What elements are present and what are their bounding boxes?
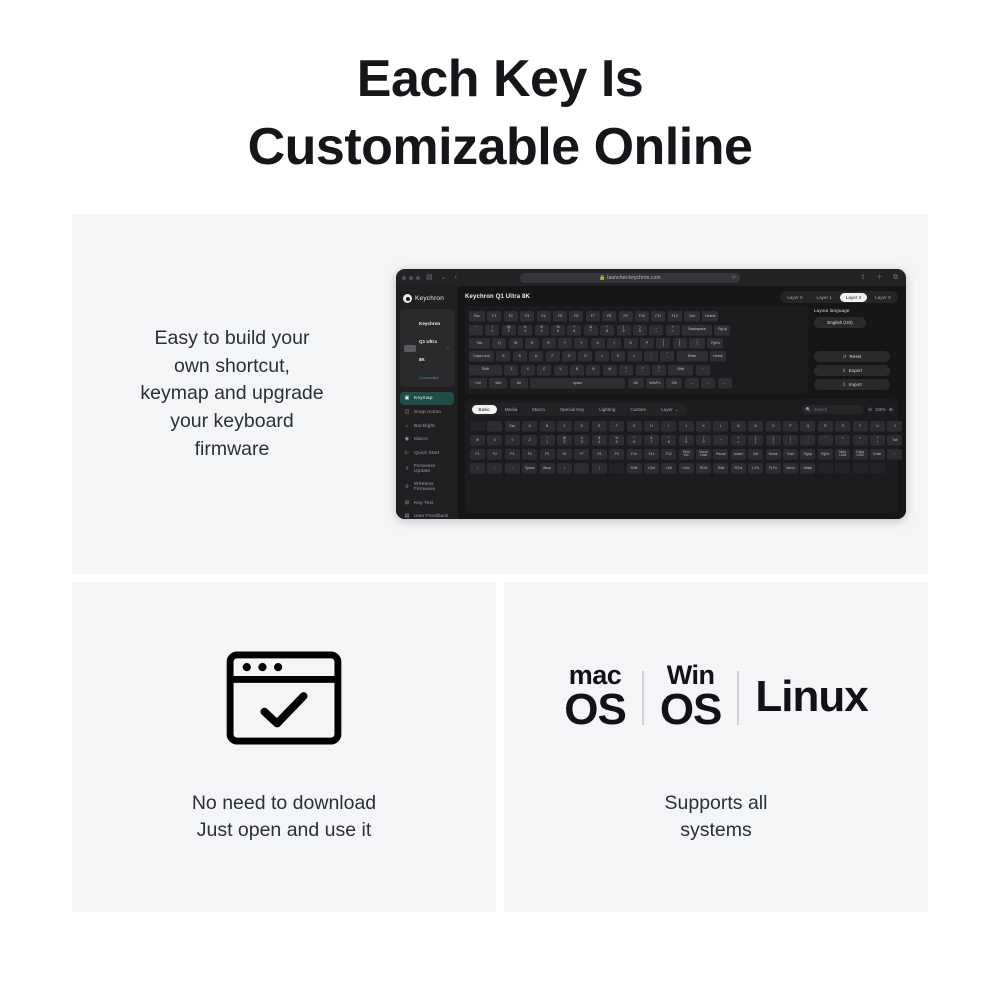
launcher-blurb: Easy to build your own shortcut, keymap … (82, 325, 382, 463)
key-picker-key[interactable]: " ' (818, 435, 833, 447)
keycap[interactable]: → (718, 378, 732, 389)
key-picker-key[interactable]: R-Fn (766, 463, 781, 475)
keycap[interactable]: * 8 (600, 325, 614, 336)
feature-cards: Easy to build your own shortcut, keymap … (72, 214, 928, 912)
sidebar-item-keymap[interactable]: ▣Keymap (400, 392, 454, 405)
keycap[interactable]: N (586, 365, 600, 376)
key-picker-key[interactable]: ^ 6 (627, 435, 642, 447)
no-download-caption: No need to download Just open and use it (192, 790, 376, 845)
blurb-line-2: own shortcut, (82, 353, 382, 381)
key-picker-key[interactable]: F7 (574, 449, 589, 461)
keycap[interactable]: $ 4 (535, 325, 549, 336)
keycap[interactable]: F1 (487, 311, 501, 322)
key-picker-key[interactable]: @ 2 (557, 435, 572, 447)
os-logo: Linux (755, 676, 867, 718)
keycap[interactable]: L (628, 351, 642, 362)
key-picker-key[interactable]: V (887, 421, 902, 433)
tab-label: Basic (479, 407, 490, 412)
search-placeholder: Search (814, 407, 827, 412)
layer-tab-0[interactable]: Layer 0 (781, 293, 808, 302)
share-icon[interactable]: ⇪ (858, 274, 868, 281)
keymap-content: EscF1F2F3F4F5F6F7F8F9F10F11F12DelDelete~… (458, 306, 906, 394)
key-picker-key[interactable]: ↓ (470, 463, 485, 475)
key-picker-key (870, 463, 885, 475)
key-picker-row: WXYZ! 1@ 2# 3$ 4% 5^ 6& 7* 8( 9) 0_ -+ =… (470, 435, 893, 447)
back-arrow-icon[interactable]: ‹ (453, 274, 459, 281)
key-picker-key[interactable]: M (731, 421, 746, 433)
sidebar-item-label: Snap Action (414, 410, 441, 415)
bottom-card-row: No need to download Just open and use it… (72, 582, 928, 912)
key-picker-key[interactable]: F11 (644, 449, 659, 461)
reset-icon: ↺ (843, 354, 847, 360)
key-picker-key[interactable]: Q (800, 421, 815, 433)
layout-panel: Layout language English (US) ↺Reset↥Expo… (814, 306, 898, 394)
keycap[interactable]: Shift (469, 365, 502, 376)
keycap[interactable]: J (595, 351, 609, 362)
keyboard-canvas[interactable]: EscF1F2F3F4F5F6F7F8F9F10F11F12DelDelete~… (465, 306, 808, 394)
key-picker-key[interactable]: RAlt (713, 463, 728, 475)
key-picker-key[interactable]: F8 (592, 449, 607, 461)
key-picker-key[interactable]: G (627, 421, 642, 433)
key-picker-key[interactable]: > . (853, 435, 868, 447)
keyboard-row: Caps LockASDFGHJKL: ;" 'EnterHome (469, 351, 804, 362)
keycap[interactable]: ( 9 (617, 325, 631, 336)
export-button[interactable]: ↥Export (814, 365, 890, 376)
key-picker-key[interactable]: RCtrl (696, 463, 711, 475)
keycap[interactable]: Enter (677, 351, 708, 362)
sidebar-item-firmware-update[interactable]: ⇧Firmware Update (400, 461, 454, 478)
keycap[interactable]: > . (636, 365, 650, 376)
zoom-level: 100% (875, 407, 886, 412)
keycap[interactable]: PgUp (714, 325, 730, 336)
keycap[interactable]: Y (574, 338, 588, 349)
keycap[interactable]: F (546, 351, 560, 362)
close-icon[interactable] (402, 276, 406, 280)
key-picker-key[interactable]: L (713, 421, 728, 433)
key-picker-key[interactable]: R (818, 421, 833, 433)
keycap[interactable]: & 7 (584, 325, 598, 336)
key-picker-key[interactable]: L-Fn (748, 463, 763, 475)
key-picker-key[interactable]: Esc (505, 421, 520, 433)
keycap[interactable]: Win/Fn (646, 378, 664, 389)
key-picker-key[interactable]: U (870, 421, 885, 433)
key-picker-key[interactable]: J (679, 421, 694, 433)
keycap[interactable]: | \ (689, 338, 705, 349)
device-name: Keychron Q1 Ultra 8K (419, 321, 440, 362)
key-picker-key[interactable]: Z (522, 435, 537, 447)
key-picker-key[interactable]: C (557, 421, 572, 433)
key-picker-key[interactable]: # 3 (574, 435, 589, 447)
key-picker-key[interactable]: LAlt (661, 463, 676, 475)
keycap[interactable]: F4 (537, 311, 551, 322)
key-picker-key[interactable]: Insert (731, 449, 746, 461)
key-picker-key[interactable]: F3 (505, 449, 520, 461)
keycap[interactable]: C (537, 365, 551, 376)
key-picker-key[interactable]: End (783, 449, 798, 461)
layer-tab-3[interactable]: Layer 3 (869, 293, 896, 302)
key-picker-key[interactable]: F12 (661, 449, 676, 461)
keycap[interactable]: _ - (649, 325, 663, 336)
key-picker-key[interactable]: + = (731, 435, 746, 447)
backlight-icon: ☼ (404, 423, 410, 429)
keycap[interactable]: Q (492, 338, 506, 349)
key-category-tab-lighting[interactable]: Lighting (592, 405, 622, 415)
keycap[interactable]: Win (489, 378, 507, 389)
key-picker-row: `EscABCDEFGHIJKLMNOPQRSTUV (470, 421, 893, 433)
key-picker-key[interactable]: I (661, 421, 676, 433)
chevron-down-icon[interactable]: ⌄ (446, 345, 450, 351)
key-picker-key[interactable]: PgDn (818, 449, 833, 461)
layer-tab-group: Layer 0Layer 1Layer 2Layer 3 (780, 291, 898, 303)
keycap[interactable]: ↑ (696, 365, 710, 376)
sidebar-item-backlight[interactable]: ☼Backlight (400, 420, 454, 433)
key-picker-key[interactable]: Pause (713, 449, 728, 461)
key-picker-key[interactable]: · (574, 463, 589, 475)
keycap[interactable]: U (591, 338, 605, 349)
blurb-line-4: your keyboard (82, 408, 382, 436)
zoom-out-icon[interactable]: ⊖ (868, 407, 872, 413)
key-picker-key (818, 463, 833, 475)
key-picker-key[interactable]: Del (748, 449, 763, 461)
key-picker-key[interactable]: W (470, 435, 485, 447)
keyboard-icon: ▣ (404, 396, 410, 402)
keycap[interactable]: A (496, 351, 510, 362)
launcher-app-window: ▤ ⌄ ‹ 🔒 launcher.keychron.com ⟳ ⇪ ＋ ⧉ (396, 269, 906, 519)
macro-icon: ◉ (404, 437, 410, 443)
keycap[interactable]: Esc (469, 311, 485, 322)
key-category-tab-layer[interactable]: Layer⌄ (654, 405, 685, 415)
keycap[interactable]: W (509, 338, 523, 349)
key-picker-key[interactable]: } ] (766, 435, 781, 447)
key-picker-key[interactable]: | (592, 463, 607, 475)
key-picker-key[interactable]: D (574, 421, 589, 433)
key-picker-key[interactable]: Y (505, 435, 520, 447)
key-picker-key[interactable]: E (592, 421, 607, 433)
key-picker-key[interactable]: ? / (870, 435, 885, 447)
page-title-line-2: Customizable Online (0, 114, 1000, 182)
sidebar-item-user-feedback[interactable]: ▤User Feedback (400, 510, 454, 519)
keycap[interactable]: V (554, 365, 568, 376)
key-picker-key (609, 463, 624, 475)
export-icon: ↥ (842, 368, 846, 374)
maximize-icon[interactable] (416, 276, 420, 280)
keycap[interactable]: Shift (668, 365, 693, 376)
keycap[interactable]: space (530, 378, 625, 389)
keyboard-row: EscF1F2F3F4F5F6F7F8F9F10F11F12DelDelete (469, 311, 804, 322)
keycap[interactable]: Del (684, 311, 700, 322)
key-picker-key[interactable]: X (487, 435, 502, 447)
key-picker-key[interactable]: T (853, 421, 868, 433)
key-picker-key[interactable]: F (609, 421, 624, 433)
key-picker-key[interactable]: ` (487, 421, 502, 433)
keycap[interactable]: O (624, 338, 638, 349)
keycap[interactable]: " ' (660, 351, 674, 362)
sidebar-item-quick-start[interactable]: ▷Quick Start (400, 447, 454, 460)
key-picker: BasicMediaMacroSpecial KeyLightingCustom… (465, 399, 898, 513)
key-picker-key[interactable]: _ - (713, 435, 728, 447)
keycap[interactable]: { [ (656, 338, 670, 349)
keycap[interactable]: F6 (569, 311, 583, 322)
key-category-tab-basic[interactable]: Basic (472, 405, 497, 415)
sidebar-item-label: User Feedback (414, 514, 448, 519)
keymap-header: Keychron Q1 Ultra 8K Layer 0Layer 1Layer… (458, 286, 906, 306)
keycap[interactable]: Delete (702, 311, 718, 322)
key-picker-key[interactable]: ! 1 (540, 435, 555, 447)
key-picker-key[interactable]: Shift (627, 463, 642, 475)
key-picker-toolbar: BasicMediaMacroSpecial KeyLightingCustom… (470, 403, 893, 416)
key-picker-key[interactable]: S (835, 421, 850, 433)
key-picker-key[interactable]: Space (522, 463, 537, 475)
tab-label: Macro (532, 407, 545, 412)
key-picker-key[interactable]: K (696, 421, 711, 433)
keycap[interactable]: F12 (668, 311, 682, 322)
keycap[interactable]: + = (666, 325, 680, 336)
keycap[interactable]: Caps Lock (469, 351, 494, 362)
key-picker-key[interactable]: Menu (783, 463, 798, 475)
keycap[interactable]: F5 (553, 311, 567, 322)
key-picker-key[interactable]: F4 (522, 449, 537, 461)
key-test-icon: ⊞ (404, 500, 410, 506)
keycap[interactable]: Backspace (682, 325, 712, 336)
keycap[interactable]: S (513, 351, 527, 362)
key-picker-key[interactable]: B (540, 421, 555, 433)
plus-icon[interactable]: ＋ (874, 274, 885, 281)
key-picker-key[interactable]: Enter (870, 449, 885, 461)
key-picker-key[interactable]: PgUp (800, 449, 815, 461)
key-picker-key[interactable]: & 7 (644, 435, 659, 447)
os-divider (642, 671, 644, 725)
keycap[interactable]: ← (685, 378, 699, 389)
keycap[interactable]: Ctrl (469, 378, 487, 389)
key-category-tabs: BasicMediaMacroSpecial KeyLightingCustom… (470, 403, 687, 416)
key-picker-key[interactable]: Scroll Lock (696, 449, 711, 461)
device-thumbnail-icon (404, 345, 416, 352)
device-info: Keychron Q1 Ultra 8K Connected (419, 312, 443, 384)
key-picker-key[interactable]: Tab (887, 435, 902, 447)
key-picker-key[interactable]: | \ (783, 435, 798, 447)
browser-window-check-icon (225, 650, 343, 746)
device-status: Connected (419, 375, 438, 380)
keycap[interactable]: ) 0 (633, 325, 647, 336)
page-title: Each Key Is Customizable Online (0, 0, 1000, 181)
window-traffic-lights[interactable] (402, 276, 420, 280)
key-picker-key[interactable]: Home (766, 449, 781, 461)
layer-tab-2[interactable]: Layer 2 (840, 293, 867, 302)
key-picker-key[interactable]: • (557, 463, 572, 475)
keycap[interactable]: : ; (644, 351, 658, 362)
keycap[interactable]: ↓ (701, 378, 715, 389)
keycap[interactable]: F11 (651, 311, 665, 322)
sidebar-item-key-test[interactable]: ⊞Key Test (400, 497, 454, 510)
key-picker-key[interactable]: O (766, 421, 781, 433)
key-picker-key[interactable]: Num Lock (835, 449, 850, 461)
keycap[interactable]: X (521, 365, 535, 376)
keycap[interactable]: < , (619, 365, 633, 376)
keycap[interactable]: Alt (510, 378, 528, 389)
keycap[interactable]: F2 (504, 311, 518, 322)
keycap[interactable]: F3 (520, 311, 534, 322)
keyboard-layout: EscF1F2F3F4F5F6F7F8F9F10F11F12DelDelete~… (469, 311, 804, 389)
key-picker-key[interactable]: ↑ (887, 449, 902, 461)
os-logo-suffix: OS (564, 689, 626, 731)
key-picker-key[interactable]: N (748, 421, 763, 433)
keycap[interactable]: F8 (602, 311, 616, 322)
layout-language-value: English (US) (827, 320, 852, 325)
key-picker-key[interactable]: RGui (731, 463, 746, 475)
key-picker-key[interactable]: ) 0 (696, 435, 711, 447)
keycap[interactable]: PgDn (707, 338, 723, 349)
key-picker-key[interactable]: F10 (627, 449, 642, 461)
launcher-body: Keychron Keychron Q1 Ultra 8K Connected … (396, 286, 906, 519)
reset-button[interactable]: ↺Reset (814, 351, 890, 362)
keycap[interactable]: E (525, 338, 539, 349)
keycap[interactable]: Alt (628, 378, 644, 389)
search-input[interactable]: 🔍 Search (802, 405, 864, 414)
key-picker-key[interactable]: { [ (748, 435, 763, 447)
key-picker-row: ↓←→SpaceBksp•·|ShiftLCtrlLAltLGuiRCtrlRA… (470, 463, 893, 475)
keycap[interactable]: G (562, 351, 576, 362)
zoom-controls: ⊖ 100% ⊕ (868, 407, 893, 413)
sidebar-nav: ▣Keymap◫Snap Action☼Backlight◉Macro▷Quic… (400, 392, 454, 519)
caption-line-2: Just open and use it (192, 817, 376, 845)
keycap[interactable]: T (558, 338, 572, 349)
keycap[interactable]: ~ ` (469, 325, 483, 336)
sidebar-item-label: Wireless Firmware (414, 482, 450, 492)
keycap[interactable]: ^ 6 (567, 325, 581, 336)
os-logo: WinOS (660, 663, 722, 731)
keycap[interactable]: F9 (619, 311, 633, 322)
brand-logo: Keychron (400, 292, 454, 309)
layout-language-select[interactable]: English (US) (814, 317, 866, 328)
card-no-download: No need to download Just open and use it (72, 582, 496, 912)
keycap[interactable]: R (542, 338, 556, 349)
keycap[interactable]: } ] (673, 338, 687, 349)
zoom-in-icon[interactable]: ⊕ (889, 407, 893, 413)
keycap[interactable]: I (607, 338, 621, 349)
keycap[interactable]: D (529, 351, 543, 362)
keycap[interactable]: M (603, 365, 617, 376)
keycap[interactable]: K (611, 351, 625, 362)
blurb-line-1: Easy to build your (82, 325, 382, 353)
key-picker-key[interactable]: ( 9 (679, 435, 694, 447)
keycap[interactable]: F7 (586, 311, 600, 322)
key-picker-key (835, 463, 850, 475)
key-picker-key[interactable]: Print Scr (679, 449, 694, 461)
tabs-overview-icon[interactable]: ⧉ (891, 274, 900, 281)
key-picker-key[interactable]: Caps Lock (853, 449, 868, 461)
picker-tools: 🔍 Search ⊖ 100% ⊕ (802, 405, 893, 414)
key-picker-key[interactable]: ← (487, 463, 502, 475)
sidebar-item-label: Firmware Update (414, 464, 450, 474)
sidebar-item-wireless-firmware[interactable]: ⌾Wireless Firmware (400, 479, 454, 496)
import-button[interactable]: ↧Import (814, 379, 890, 390)
chevron-down-icon[interactable]: ⌄ (439, 274, 449, 281)
keychron-logo-icon (403, 294, 412, 303)
key-picker-key[interactable]: : ; (800, 435, 815, 447)
key-picker-key[interactable]: % 5 (609, 435, 624, 447)
key-picker-key[interactable]: F9 (609, 449, 624, 461)
keycap[interactable]: @ 2 (502, 325, 516, 336)
refresh-icon[interactable]: ⟳ (732, 275, 736, 281)
key-category-tab-media[interactable]: Media (498, 405, 525, 415)
keycap[interactable]: F10 (635, 311, 649, 322)
key-picker-key[interactable]: A (522, 421, 537, 433)
key-picker-key[interactable]: H (644, 421, 659, 433)
sidebar-item-macro[interactable]: ◉Macro (400, 434, 454, 447)
card-supports-all-systems: macOSWinOSLinux Supports all systems (504, 582, 928, 912)
key-picker-key[interactable]: Bksp (540, 463, 555, 475)
keycap[interactable]: % 5 (551, 325, 565, 336)
key-picker-key[interactable]: P (783, 421, 798, 433)
keyboard-row: ShiftZXCVBNM< ,> .? /Shift↑ (469, 365, 804, 376)
sidebar-item-label: Key Test (414, 501, 433, 506)
sidebar-item-label: Keymap (414, 396, 433, 401)
key-category-tab-custom[interactable]: Custom (623, 405, 653, 415)
os-divider (737, 671, 739, 725)
os-logo: macOS (564, 663, 626, 731)
sidebar-item-label: Quick Start (414, 451, 439, 456)
sidebar-toggle-icon[interactable]: ▤ (424, 274, 435, 281)
key-picker-key[interactable]: F1 (470, 449, 485, 461)
search-icon: 🔍 (806, 407, 812, 413)
keycap[interactable]: # 3 (518, 325, 532, 336)
browser-actions: ⇪ ＋ ⧉ (858, 274, 900, 281)
keycap[interactable]: Home (710, 351, 726, 362)
sidebar-item-snap-action[interactable]: ◫Snap Action (400, 406, 454, 419)
keycap[interactable]: Ctrl (666, 378, 682, 389)
key-picker-key[interactable]: Wake (800, 463, 815, 475)
key-picker-key[interactable]: LCtrl (644, 463, 659, 475)
tab-label: Layer (661, 407, 673, 412)
keycap[interactable]: Tab (469, 338, 490, 349)
key-picker-key[interactable]: < , (835, 435, 850, 447)
play-circle-icon: ▷ (404, 451, 410, 457)
blurb-line-3: keymap and upgrade (82, 380, 382, 408)
layer-tab-1[interactable]: Layer 1 (811, 293, 838, 302)
device-selector[interactable]: Keychron Q1 Ultra 8K Connected ⌄ (400, 309, 454, 387)
keyboard-row: ~ `! 1@ 2# 3$ 4% 5^ 6& 7* 8( 9) 0_ -+ =B… (469, 325, 804, 336)
key-picker-key[interactable]: $ 4 (592, 435, 607, 447)
keycap[interactable]: B (570, 365, 584, 376)
key-picker-key[interactable]: → (505, 463, 520, 475)
key-picker-key[interactable]: F5 (540, 449, 555, 461)
key-picker-key[interactable]: F2 (487, 449, 502, 461)
keycap[interactable]: ! 1 (485, 325, 499, 336)
feedback-icon: ▤ (404, 514, 410, 519)
sidebar-item-label: Macro (414, 437, 428, 442)
keycap[interactable]: H (578, 351, 592, 362)
key-picker-key[interactable]: * 8 (661, 435, 676, 447)
key-picker-key[interactable]: LGui (679, 463, 694, 475)
blurb-line-5: firmware (82, 436, 382, 464)
key-picker-row: F1F2F3F4F5F6F7F8F9F10F11F12Print ScrScro… (470, 449, 893, 461)
key-category-tab-special-key[interactable]: Special Key (553, 405, 591, 415)
firmware-icon: ⇧ (404, 466, 410, 472)
browser-toolbar: ▤ ⌄ ‹ 🔒 launcher.keychron.com ⟳ ⇪ ＋ ⧉ (396, 269, 906, 286)
wireless-icon: ⌾ (404, 484, 410, 490)
page-title-line-1: Each Key Is (0, 46, 1000, 114)
tab-label: Custom (630, 407, 646, 412)
key-category-tab-macro[interactable]: Macro (525, 405, 552, 415)
keycap[interactable]: P (640, 338, 654, 349)
launcher-sidebar: Keychron Keychron Q1 Ultra 8K Connected … (396, 286, 458, 519)
key-picker-key[interactable]: F6 (557, 449, 572, 461)
minimize-icon[interactable] (409, 276, 413, 280)
keycap[interactable]: ? / (652, 365, 666, 376)
keycap[interactable]: Z (504, 365, 518, 376)
os-logo-suffix: OS (660, 689, 722, 731)
address-bar[interactable]: 🔒 launcher.keychron.com ⟳ (520, 273, 740, 283)
